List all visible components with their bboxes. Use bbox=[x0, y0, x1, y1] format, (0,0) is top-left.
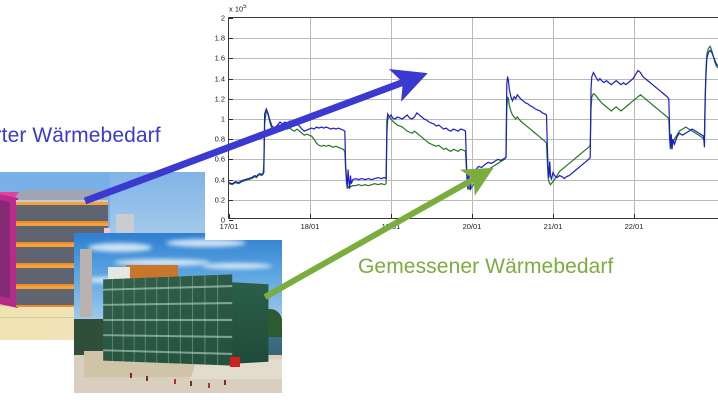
x-axis-tick-label: 22/01 bbox=[625, 222, 644, 231]
photo-cloud bbox=[166, 239, 246, 247]
y-axis-tick-mark bbox=[229, 220, 233, 221]
plot-area: 00.20.40.60.811.21.41.61.8217/0118/0119/… bbox=[228, 17, 718, 219]
x-axis-tick-label: 19/01 bbox=[382, 222, 401, 231]
measured-demand-line bbox=[229, 46, 718, 189]
exponent-base: x 10 bbox=[229, 5, 243, 14]
y-axis-exponent: x 105 bbox=[229, 4, 247, 14]
y-axis-tick-label: 1 bbox=[221, 115, 225, 124]
simulated-demand-label: ierter Wärmebedarf bbox=[0, 124, 161, 148]
x-axis-tick-label: 20/01 bbox=[463, 222, 482, 231]
slide-canvas: x 105 00.20.40.60.811.21.41.61.8217/0118… bbox=[0, 0, 718, 404]
y-axis-tick-label: 0.2 bbox=[215, 195, 225, 204]
photo-background-tower bbox=[80, 249, 92, 317]
exponent-power: 5 bbox=[243, 4, 246, 10]
heat-demand-chart: x 105 00.20.40.60.811.21.41.61.8217/0118… bbox=[205, 0, 718, 240]
x-axis-tick-label: 18/01 bbox=[301, 222, 320, 231]
building-photo bbox=[74, 233, 282, 393]
photo-cloud bbox=[88, 243, 152, 252]
y-axis-tick-label: 2 bbox=[221, 14, 225, 23]
x-axis-tick-label: 21/01 bbox=[544, 222, 563, 231]
y-axis-tick-label: 1.8 bbox=[215, 34, 225, 43]
y-axis-tick-label: 0.8 bbox=[215, 135, 225, 144]
photo-cloud bbox=[202, 263, 272, 269]
y-axis-tick-label: 0.4 bbox=[215, 175, 225, 184]
photo-building-facade bbox=[103, 274, 232, 365]
simulated-demand-line bbox=[229, 50, 718, 189]
photo-red-object bbox=[230, 357, 240, 367]
x-axis-tick-label: 17/01 bbox=[220, 222, 239, 231]
y-axis-tick-label: 1.6 bbox=[215, 54, 225, 63]
chart-curves bbox=[229, 18, 718, 220]
model-gable-shadow bbox=[0, 198, 10, 298]
model-floor bbox=[16, 202, 108, 223]
y-axis-tick-label: 0.6 bbox=[215, 155, 225, 164]
y-axis-tick-label: 1.2 bbox=[215, 94, 225, 103]
y-axis-tick-label: 1.4 bbox=[215, 74, 225, 83]
measured-demand-label: Gemessener Wärmebedarf bbox=[358, 255, 613, 279]
